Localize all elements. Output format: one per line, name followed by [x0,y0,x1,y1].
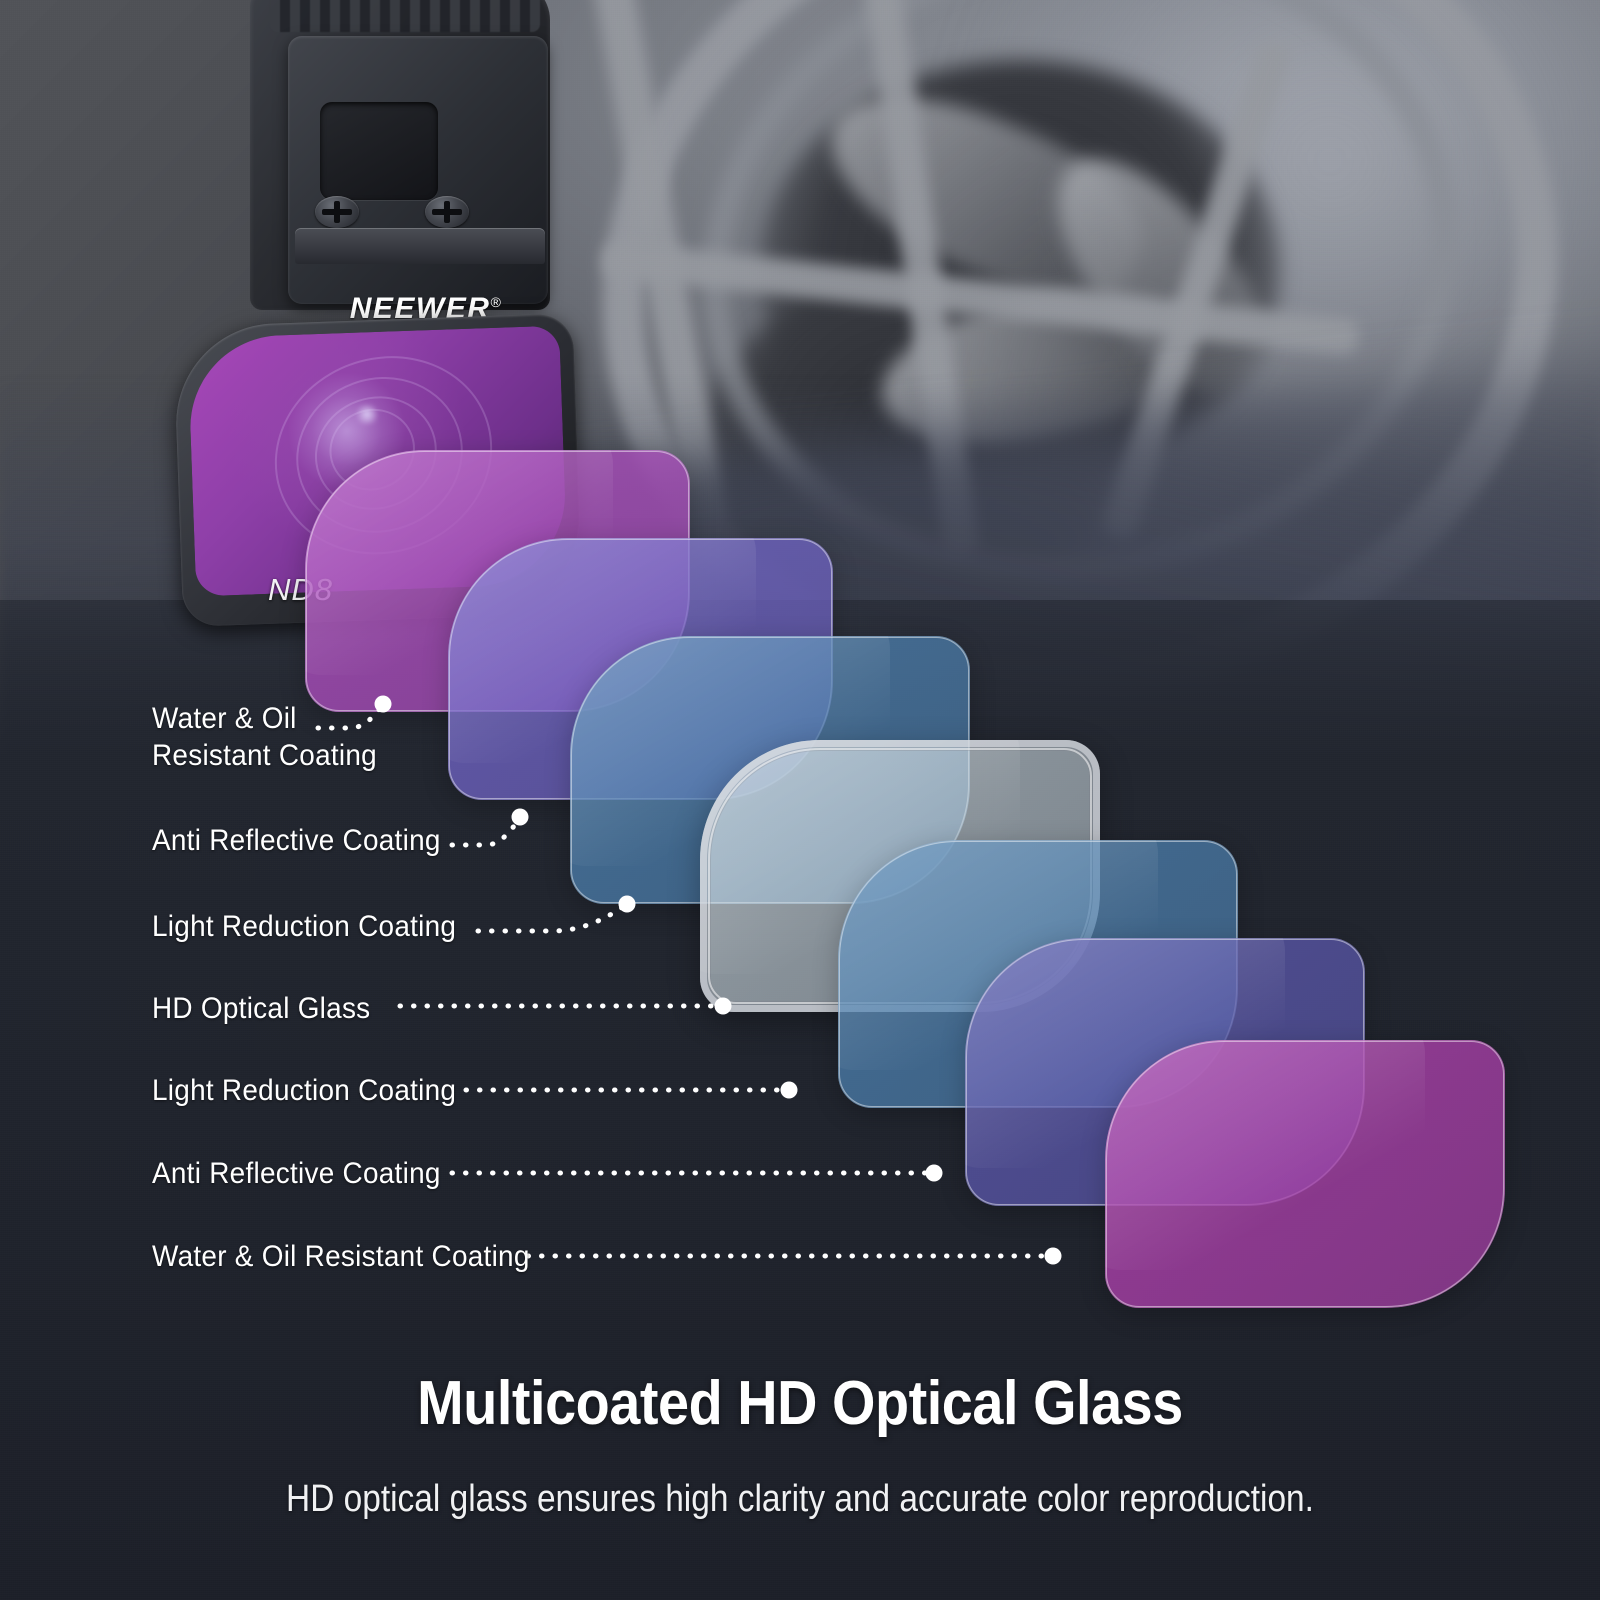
hd-optical-glass-label: HD Optical Glass [152,990,370,1027]
page-subheadline: HD optical glass ensures high clarity an… [96,1478,1504,1521]
water-oil-resistant-coating-bottom-label: Water & Oil Resistant Coating [152,1238,530,1275]
light-reduction-coating-top-label: Light Reduction Coating [152,908,456,945]
callout-label-group: Water & Oil Resistant CoatingAnti Reflec… [0,0,1600,1600]
product-infographic: NEEWER® ND8 Water & Oil Resistant Coatin… [0,0,1600,1600]
page-headline: Multicoated HD Optical Glass [80,1368,1520,1439]
light-reduction-coating-bottom-label: Light Reduction Coating [152,1072,456,1109]
water-oil-resistant-coating-top-label: Water & Oil Resistant Coating [152,700,377,774]
anti-reflective-coating-bottom-label: Anti Reflective Coating [152,1155,441,1192]
anti-reflective-coating-top-label: Anti Reflective Coating [152,822,441,859]
